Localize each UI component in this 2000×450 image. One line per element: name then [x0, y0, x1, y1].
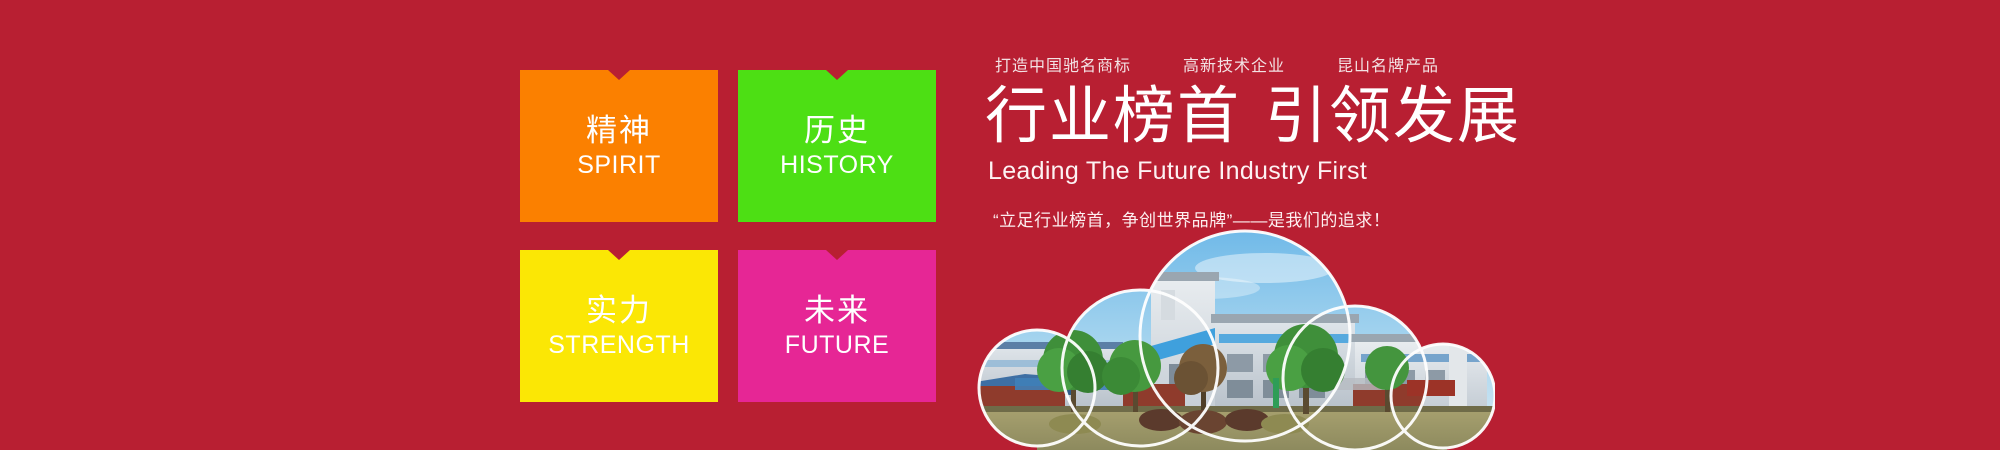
notch-icon	[608, 70, 630, 80]
concept-tile-grid: 精神 SPIRIT 历史 HISTORY 实力 STRENGTH 未来 FUTU…	[520, 70, 940, 402]
promo-banner: 精神 SPIRIT 历史 HISTORY 实力 STRENGTH 未来 FUTU…	[0, 0, 2000, 450]
main-title-part-1: 行业榜首	[985, 82, 1241, 151]
award-item-1: 打造中国驰名商标	[995, 52, 1131, 76]
award-item-2: 高新技术企业	[1183, 52, 1285, 76]
tile-spirit[interactable]: 精神 SPIRIT	[520, 70, 718, 222]
notch-icon	[826, 250, 848, 260]
main-title-part-2: 引领发展	[1265, 82, 1521, 151]
tile-strength[interactable]: 实力 STRENGTH	[520, 250, 718, 402]
main-title: 行业榜首引领发展	[985, 82, 1605, 151]
notch-icon	[608, 250, 630, 260]
tile-label-cn: 实力	[586, 295, 652, 326]
tile-history[interactable]: 历史 HISTORY	[738, 70, 936, 222]
notch-icon	[826, 70, 848, 80]
tile-label-en: HISTORY	[780, 153, 894, 178]
tile-future[interactable]: 未来 FUTURE	[738, 250, 936, 402]
factory-photo-collage	[955, 228, 1495, 450]
award-list: 打造中国驰名商标 高新技术企业 昆山名牌产品	[985, 52, 1605, 76]
award-item-3: 昆山名牌产品	[1337, 52, 1439, 76]
sub-title: Leading The Future Industry First	[985, 157, 1605, 186]
cloud-photo-svg	[955, 228, 1495, 450]
headline-block: 打造中国驰名商标 高新技术企业 昆山名牌产品 行业榜首引领发展 Leading …	[985, 52, 1605, 231]
tile-label-cn: 精神	[586, 115, 652, 146]
tile-label-cn: 未来	[804, 295, 870, 326]
tile-label-en: STRENGTH	[548, 333, 690, 358]
tile-label-cn: 历史	[804, 115, 870, 146]
tile-label-en: FUTURE	[785, 333, 889, 358]
tile-label-en: SPIRIT	[577, 153, 661, 178]
